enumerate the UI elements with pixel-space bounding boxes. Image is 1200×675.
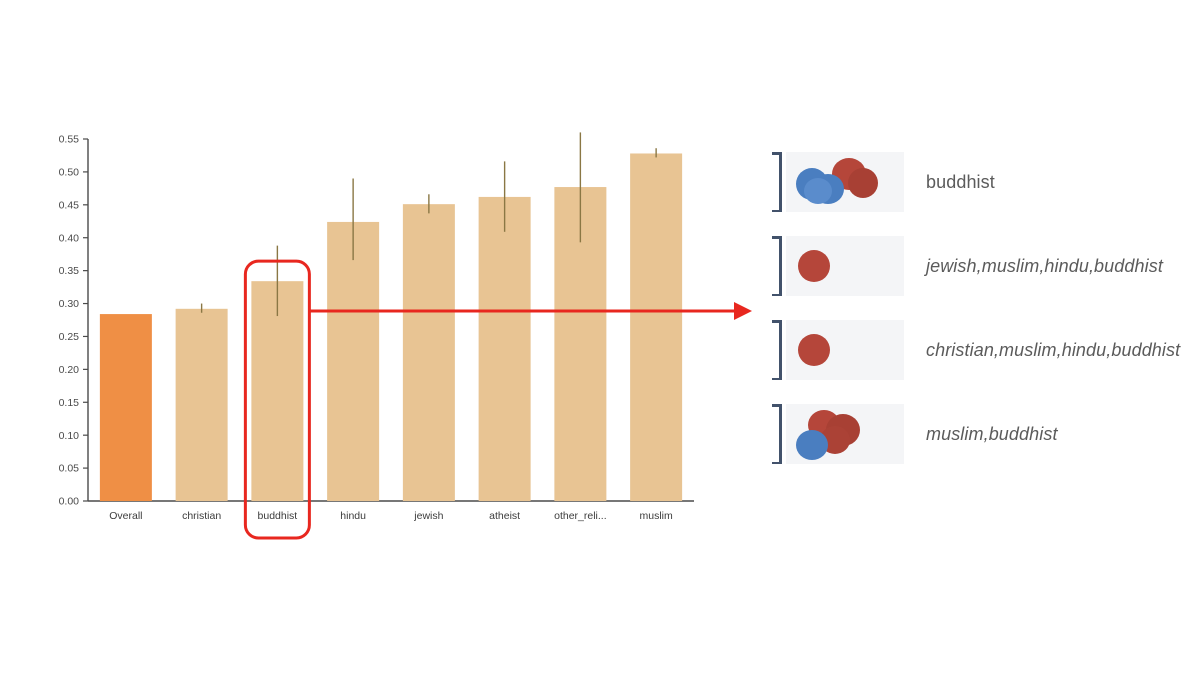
bar[interactable] bbox=[327, 222, 379, 501]
bar[interactable] bbox=[100, 314, 152, 501]
blob-thumbnail bbox=[786, 404, 904, 464]
chart-svg: 0.000.050.100.150.200.250.300.350.400.45… bbox=[0, 0, 760, 675]
legend-label: jewish,muslim,hindu,buddhist bbox=[926, 256, 1163, 277]
legend-row[interactable]: buddhist bbox=[772, 148, 1192, 216]
x-tick-label: jewish bbox=[413, 510, 443, 522]
legend-label: buddhist bbox=[926, 172, 995, 193]
svg-text:0.35: 0.35 bbox=[59, 265, 80, 277]
x-tick-label: atheist bbox=[489, 510, 520, 522]
bracket-icon bbox=[772, 404, 784, 464]
legend-label: christian,muslim,hindu,buddhist bbox=[926, 340, 1180, 361]
svg-text:0.55: 0.55 bbox=[59, 134, 80, 146]
bar-series bbox=[100, 153, 682, 501]
legend-row[interactable]: muslim,buddhist bbox=[772, 400, 1192, 468]
x-tick-label: other_reli... bbox=[554, 510, 607, 522]
x-tick-label: christian bbox=[182, 510, 221, 522]
svg-text:0.15: 0.15 bbox=[59, 397, 80, 409]
bracket-icon bbox=[772, 320, 784, 380]
bar[interactable] bbox=[176, 309, 228, 501]
legend-row[interactable]: christian,muslim,hindu,buddhist bbox=[772, 316, 1192, 384]
annotation-arrow-head bbox=[734, 302, 752, 320]
screenshot-root: 0.000.050.100.150.200.250.300.350.400.45… bbox=[0, 0, 1200, 675]
svg-text:0.20: 0.20 bbox=[59, 364, 80, 376]
legend-panel: buddhist jewish,muslim,hindu,buddhist ch… bbox=[772, 148, 1192, 488]
blob-thumbnail bbox=[786, 152, 904, 212]
svg-text:0.30: 0.30 bbox=[59, 298, 80, 310]
x-tick-label: Overall bbox=[109, 510, 142, 522]
svg-text:0.40: 0.40 bbox=[59, 232, 80, 244]
bar[interactable] bbox=[403, 204, 455, 501]
x-tick-label: muslim bbox=[640, 510, 674, 522]
bracket-icon bbox=[772, 236, 784, 296]
svg-text:0.45: 0.45 bbox=[59, 199, 80, 211]
x-tick-label: hindu bbox=[340, 510, 366, 522]
blob-thumbnail bbox=[786, 320, 904, 380]
svg-text:0.25: 0.25 bbox=[59, 331, 80, 343]
x-tick-label: buddhist bbox=[258, 510, 298, 522]
svg-text:0.05: 0.05 bbox=[59, 463, 80, 475]
svg-text:0.00: 0.00 bbox=[59, 496, 80, 508]
blob-thumbnail bbox=[786, 236, 904, 296]
svg-text:0.10: 0.10 bbox=[59, 430, 80, 442]
legend-label: muslim,buddhist bbox=[926, 424, 1058, 445]
y-axis-ticks: 0.000.050.100.150.200.250.300.350.400.45… bbox=[59, 134, 88, 508]
svg-text:0.50: 0.50 bbox=[59, 167, 80, 179]
bar[interactable] bbox=[630, 153, 682, 501]
bracket-icon bbox=[772, 152, 784, 212]
bar-chart: 0.000.050.100.150.200.250.300.350.400.45… bbox=[0, 0, 760, 675]
legend-row[interactable]: jewish,muslim,hindu,buddhist bbox=[772, 232, 1192, 300]
x-axis-category-labels: Overallchristianbuddhisthindujewishathei… bbox=[109, 510, 673, 522]
bar[interactable] bbox=[479, 197, 531, 501]
